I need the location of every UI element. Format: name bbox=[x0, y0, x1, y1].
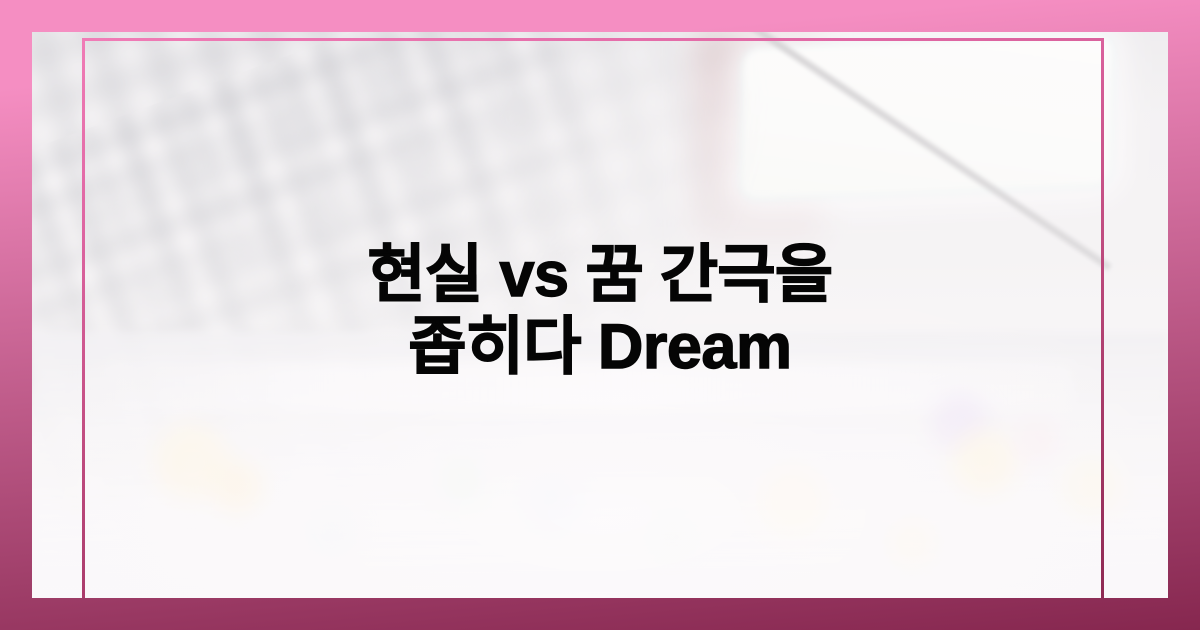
title-area: 현실 vs 꿈 간극을 좁히다 Dream bbox=[32, 32, 1168, 598]
page-title: 현실 vs 꿈 간극을 좁히다 Dream bbox=[368, 240, 833, 390]
thumbnail-canvas: 현실 vs 꿈 간극을 좁히다 Dream bbox=[0, 0, 1200, 630]
background-photo: 현실 vs 꿈 간극을 좁히다 Dream bbox=[32, 32, 1168, 598]
